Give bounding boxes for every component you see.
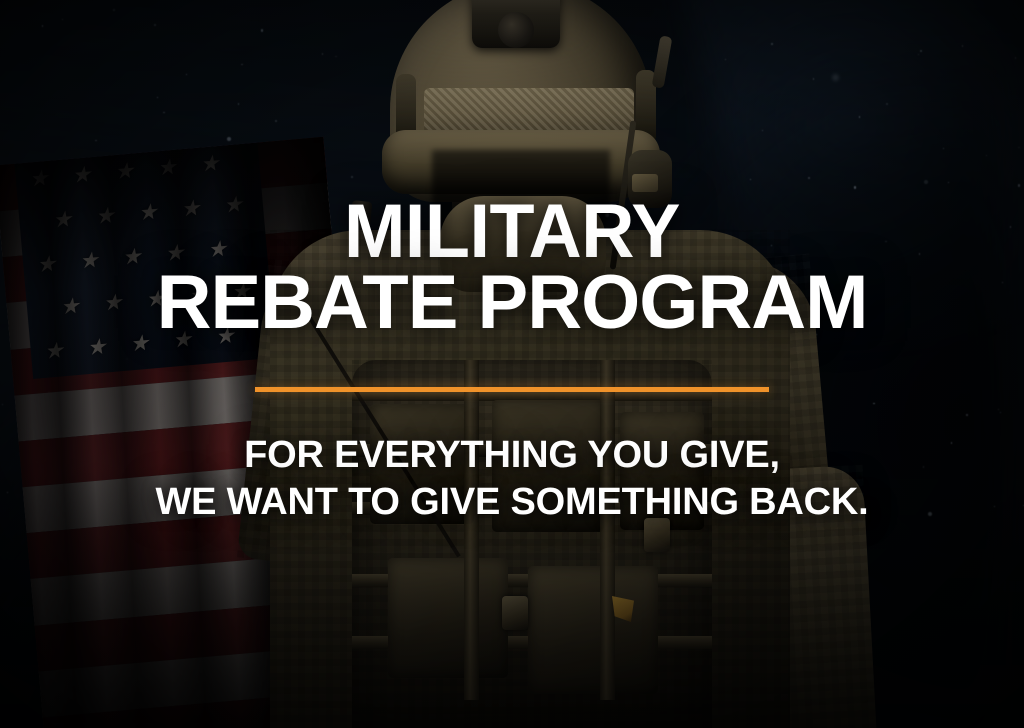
vest-pouch bbox=[370, 404, 474, 524]
helmet-antenna bbox=[652, 35, 673, 88]
helmet-patch bbox=[632, 174, 658, 192]
vest-pouch bbox=[528, 566, 658, 694]
vest-pouch bbox=[620, 412, 704, 530]
helmet-velcro-panel bbox=[424, 88, 634, 134]
vest-strap bbox=[600, 360, 615, 700]
vest-pouch bbox=[492, 400, 604, 532]
nvg-knob bbox=[498, 12, 534, 48]
military-rebate-banner: ★★★★★★★★★★★★★★★★★★★★★★★★★ bbox=[0, 0, 1024, 728]
vest-buckle bbox=[644, 518, 670, 552]
soldier-figure bbox=[0, 0, 1024, 728]
vest-pouch bbox=[388, 558, 508, 678]
vest-buckle bbox=[502, 596, 528, 630]
tactical-vest bbox=[352, 360, 712, 728]
vest-strap bbox=[464, 360, 479, 700]
face-covering bbox=[440, 196, 606, 292]
